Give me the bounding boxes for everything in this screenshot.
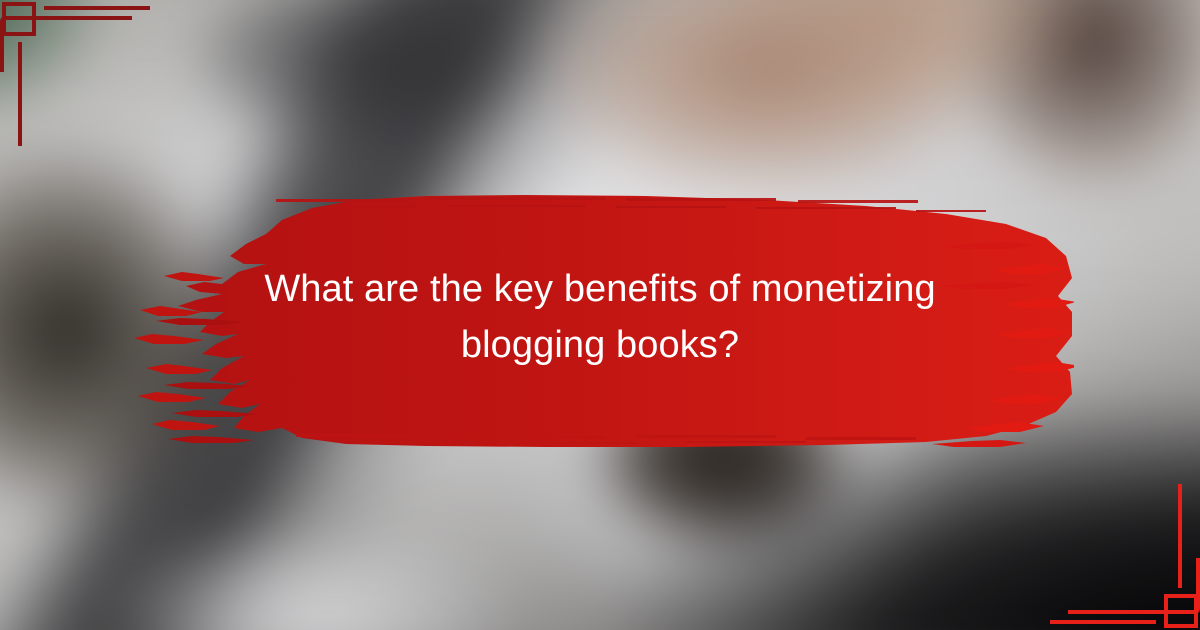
headline-container: What are the key benefits of monetizing … xyxy=(126,186,1074,448)
hero-card: What are the key benefits of monetizing … xyxy=(0,0,1200,630)
page-title: What are the key benefits of monetizing … xyxy=(218,261,982,373)
